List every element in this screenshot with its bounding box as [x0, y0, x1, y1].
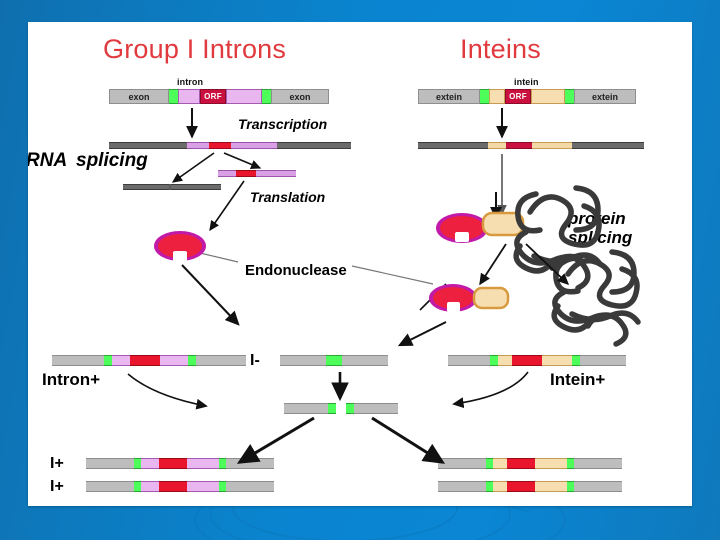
arrow-splicing-to-intron [224, 153, 260, 168]
slide-background: Group I Introns Inteins intron exon ORF … [0, 0, 720, 540]
arrow-to-product-intron [240, 418, 314, 462]
leader-endonuclease-right [352, 266, 433, 284]
arrow-intein-homing [454, 372, 528, 404]
arrow-splicing-to-exons [173, 153, 214, 182]
arrow-endonuclease-to-dna-left [182, 265, 238, 324]
arrow-endonuclease-to-dna-right [400, 322, 446, 345]
arrow-to-excised-intein [480, 244, 506, 284]
diagram-arrows-and-shapes [28, 22, 692, 506]
endonuclease-pacman-shape-left [154, 231, 206, 262]
excised-intein-endonuclease [429, 284, 508, 312]
arrow-intron-homing [128, 374, 206, 406]
arrow-translation [210, 181, 244, 230]
diagram-canvas: Group I Introns Inteins intron exon ORF … [28, 22, 692, 506]
precursor-protein-complex [436, 213, 523, 243]
folded-protein-tangle-lower [554, 252, 638, 344]
leader-endonuclease-left [200, 253, 238, 262]
arrow-to-product-intein [372, 418, 442, 462]
